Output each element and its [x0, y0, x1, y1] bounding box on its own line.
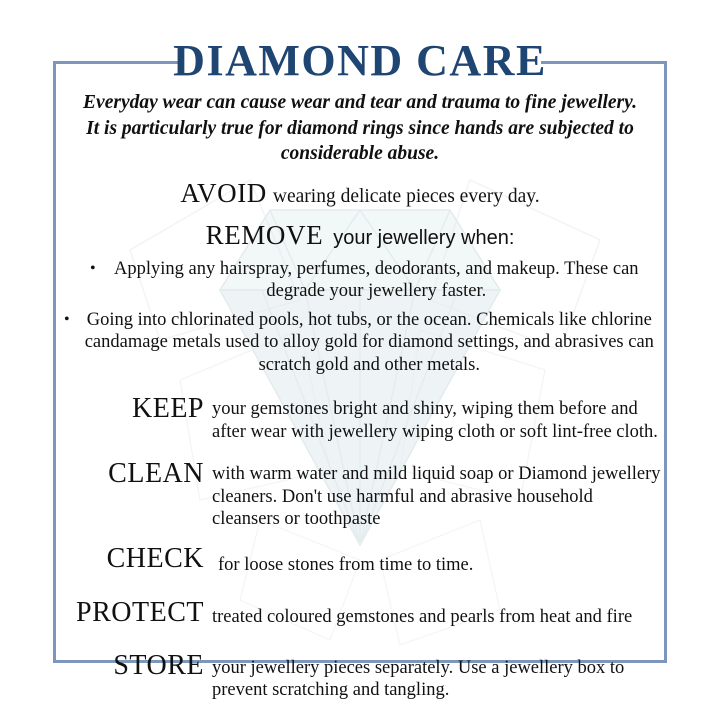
- clean-keyword: CLEAN: [56, 459, 204, 489]
- bullet-dot-icon: •: [64, 309, 81, 331]
- clean-body: with warm water and mild liquid soap or …: [204, 459, 664, 531]
- section-remove: REMOVEyour jewellery when:: [56, 220, 664, 251]
- store-body: your jewellery pieces separately. Use a …: [204, 651, 664, 702]
- frame-border-right: [664, 61, 667, 663]
- section-clean: CLEAN with warm water and mild liquid so…: [56, 459, 664, 531]
- remove-bullet-list: • Applying any hairspray, perfumes, deod…: [56, 258, 664, 377]
- section-check: CHECK for loose stones from time to time…: [56, 544, 664, 577]
- avoid-keyword: AVOID: [180, 178, 267, 208]
- diamond-care-infographic: DIAMOND CARE Everyday wear can cause wea…: [0, 0, 720, 720]
- remove-keyword: REMOVE: [206, 220, 324, 250]
- keep-keyword: KEEP: [56, 394, 204, 424]
- list-item: • Going into chlorinated pools, hot tubs…: [56, 303, 664, 377]
- section-protect: PROTECT treated coloured gemstones and p…: [56, 598, 664, 629]
- page-title: DIAMOND CARE: [56, 36, 664, 86]
- store-keyword: STORE: [56, 651, 204, 681]
- list-item-text: Applying any hairspray, perfumes, deodor…: [107, 258, 646, 303]
- section-avoid: AVOIDwearing delicate pieces every day.: [56, 178, 664, 209]
- avoid-body: wearing delicate pieces every day.: [267, 186, 540, 207]
- section-keep: KEEP your gemstones bright and shiny, wi…: [56, 394, 664, 443]
- remove-body: your jewellery when:: [323, 227, 514, 249]
- bullet-dot-icon: •: [90, 258, 107, 280]
- keep-body: your gemstones bright and shiny, wiping …: [204, 394, 664, 443]
- content-area: DIAMOND CARE Everyday wear can cause wea…: [56, 36, 664, 702]
- list-item-text: Going into chlorinated pools, hot tubs, …: [81, 309, 658, 377]
- intro-paragraph: Everyday wear can cause wear and tear an…: [78, 90, 642, 167]
- list-item: • Applying any hairspray, perfumes, deod…: [56, 258, 664, 303]
- check-keyword: CHECK: [56, 544, 204, 574]
- check-body: for loose stones from time to time.: [204, 544, 664, 577]
- section-store: STORE your jewellery pieces separately. …: [56, 651, 664, 702]
- protect-body: treated coloured gemstones and pearls fr…: [204, 598, 664, 629]
- protect-keyword: PROTECT: [56, 598, 204, 628]
